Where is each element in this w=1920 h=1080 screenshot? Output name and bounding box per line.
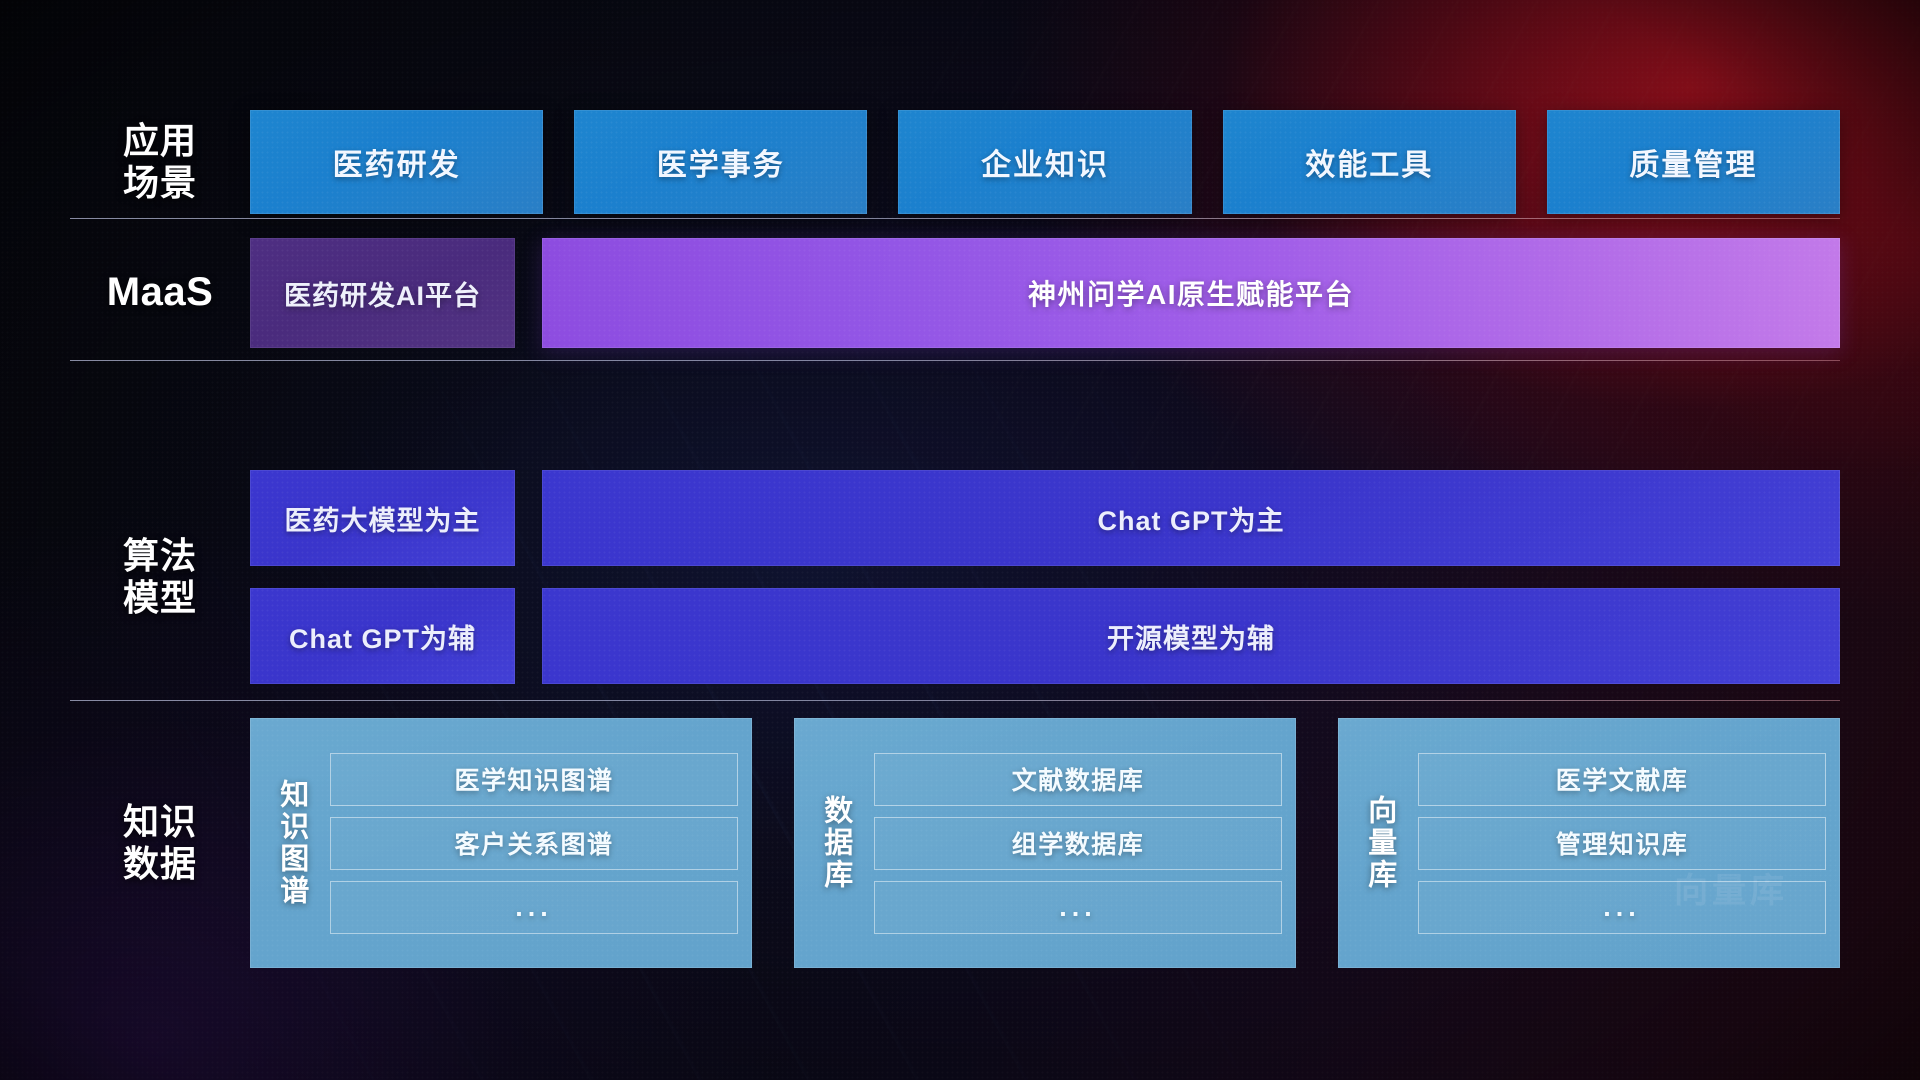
- divider-maas-algo: [70, 360, 1840, 361]
- row-label-knowledge-data: 知识 数据: [70, 801, 250, 886]
- knowledge-item-customer-relation-graph[interactable]: 客户关系图谱: [330, 817, 738, 870]
- algorithm-row-secondary: Chat GPT为辅 开源模型为辅: [250, 588, 1840, 684]
- row-algorithm-models: 算法 模型 医药大模型为主 Chat GPT为主 Chat GPT为辅 开源模型…: [70, 462, 1840, 692]
- algorithm-card-list: 医药大模型为主 Chat GPT为主 Chat GPT为辅 开源模型为辅: [250, 470, 1840, 684]
- application-card-list: 医药研发 医学事务 企业知识 效能工具 质量管理: [250, 110, 1840, 214]
- app-card-label: 企业知识: [981, 140, 1109, 184]
- knowledge-item-more[interactable]: ...: [1418, 881, 1826, 934]
- algo-card-label: Chat GPT为主: [1097, 499, 1284, 538]
- app-card-quality-management[interactable]: 质量管理: [1547, 110, 1840, 214]
- knowledge-group-database[interactable]: 数据库 文献数据库 组学数据库 ...: [794, 718, 1296, 968]
- slide-canvas: 应用 场景 医药研发 医学事务 企业知识 效能工具 质量管理: [0, 0, 1920, 1080]
- architecture-diagram: 应用 场景 医药研发 医学事务 企业知识 效能工具 质量管理: [0, 0, 1920, 1080]
- knowledge-item-list: 医学知识图谱 客户关系图谱 ...: [330, 730, 738, 956]
- algo-card-opensource-secondary[interactable]: 开源模型为辅: [542, 588, 1840, 684]
- maas-card-list: 医药研发AI平台 神州问学AI原生赋能平台: [250, 238, 1840, 348]
- row-maas: MaaS 医药研发AI平台 神州问学AI原生赋能平台: [70, 238, 1840, 348]
- app-card-label: 医药研发: [333, 140, 461, 184]
- knowledge-group-title: 数据库: [804, 730, 866, 956]
- knowledge-item-management-knowledge-store[interactable]: 管理知识库: [1418, 817, 1826, 870]
- maas-card-label: 神州问学AI原生赋能平台: [1028, 273, 1354, 313]
- divider-algo-knowledge: [70, 700, 1840, 701]
- knowledge-item-more[interactable]: ...: [330, 881, 738, 934]
- algo-card-chatgpt-primary[interactable]: Chat GPT为主: [542, 470, 1840, 566]
- knowledge-item-list: 文献数据库 组学数据库 ...: [874, 730, 1282, 956]
- algo-card-label: 开源模型为辅: [1107, 617, 1275, 656]
- algo-card-chatgpt-secondary[interactable]: Chat GPT为辅: [250, 588, 515, 684]
- app-card-label: 效能工具: [1305, 140, 1433, 184]
- app-card-label: 质量管理: [1629, 140, 1757, 184]
- maas-card-shenzhou-wenxue-platform[interactable]: 神州问学AI原生赋能平台: [542, 238, 1840, 348]
- knowledge-group-title: 向量库: [1348, 730, 1410, 956]
- algo-card-label: Chat GPT为辅: [289, 617, 476, 656]
- app-card-medical-affairs[interactable]: 医学事务: [574, 110, 867, 214]
- row-label-application-scenarios: 应用 场景: [70, 120, 250, 205]
- app-card-label: 医学事务: [657, 140, 785, 184]
- row-label-maas: MaaS: [70, 269, 250, 316]
- knowledge-item-medical-literature-store[interactable]: 医学文献库: [1418, 753, 1826, 806]
- knowledge-group-list: 知识图谱 医学知识图谱 客户关系图谱 ... 数据库 文献数据库 组学数据库 .…: [250, 718, 1840, 968]
- app-card-efficiency-tools[interactable]: 效能工具: [1223, 110, 1516, 214]
- row-label-algorithm-models: 算法 模型: [70, 535, 250, 620]
- knowledge-item-literature-database[interactable]: 文献数据库: [874, 753, 1282, 806]
- app-card-enterprise-knowledge[interactable]: 企业知识: [898, 110, 1191, 214]
- knowledge-group-title: 知识图谱: [260, 730, 322, 956]
- app-card-drug-rd[interactable]: 医药研发: [250, 110, 543, 214]
- knowledge-item-more[interactable]: ...: [874, 881, 1282, 934]
- algorithm-row-primary: 医药大模型为主 Chat GPT为主: [250, 470, 1840, 566]
- knowledge-group-vector-store[interactable]: 向量库 医学文献库 管理知识库 ... 向量库: [1338, 718, 1840, 968]
- row-knowledge-data: 知识 数据 知识图谱 医学知识图谱 客户关系图谱 ... 数据库 文献数据库 组…: [70, 718, 1840, 968]
- knowledge-group-knowledge-graph[interactable]: 知识图谱 医学知识图谱 客户关系图谱 ...: [250, 718, 752, 968]
- maas-card-drug-rd-ai-platform[interactable]: 医药研发AI平台: [250, 238, 515, 348]
- row-application-scenarios: 应用 场景 医药研发 医学事务 企业知识 效能工具 质量管理: [70, 108, 1840, 216]
- maas-card-label: 医药研发AI平台: [284, 274, 481, 313]
- knowledge-item-omics-database[interactable]: 组学数据库: [874, 817, 1282, 870]
- knowledge-item-list: 医学文献库 管理知识库 ...: [1418, 730, 1826, 956]
- algo-card-pharma-llm-primary[interactable]: 医药大模型为主: [250, 470, 515, 566]
- divider-apps-maas: [70, 218, 1840, 219]
- knowledge-item-medical-knowledge-graph[interactable]: 医学知识图谱: [330, 753, 738, 806]
- algo-card-label: 医药大模型为主: [285, 499, 481, 538]
